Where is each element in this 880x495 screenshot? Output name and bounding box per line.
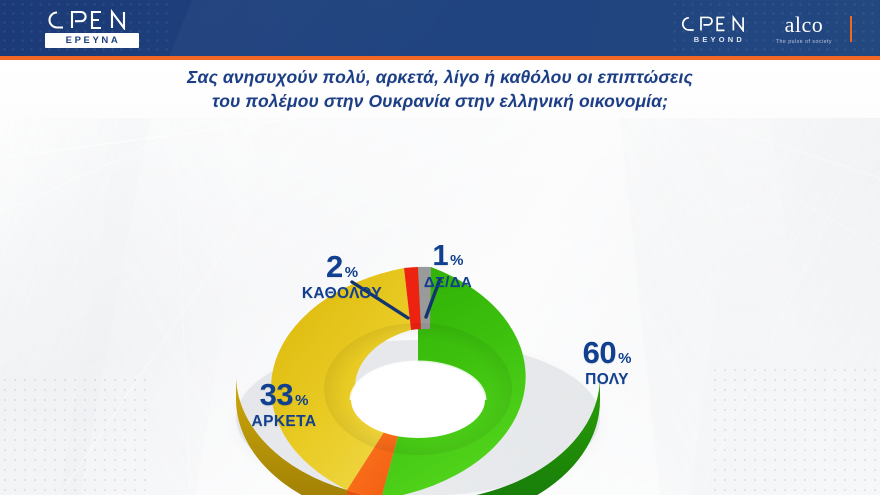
beyond-label: BEYOND	[691, 35, 745, 44]
label-arketa-percent: %	[295, 393, 308, 408]
header-sheen	[156, 0, 504, 56]
page-title: Σας ανησυχούν πολύ, αρκετά, λίγο ή καθόλ…	[187, 65, 693, 113]
open-beyond-logo: BEYOND	[678, 15, 758, 44]
label-katholou-category: ΚΑΘΟΛΟΥ	[282, 286, 402, 302]
open-ereyna-logo: ΕΡΕΥΝΑ	[45, 9, 165, 51]
label-poly-value: 60	[583, 337, 616, 368]
ereyna-label: ΕΡΕΥΝΑ	[64, 36, 121, 46]
donut-chart	[0, 118, 880, 495]
title-band: Σας ανησυχούν πολύ, αρκετά, λίγο ή καθόλ…	[0, 60, 880, 118]
label-katholou-value: 2	[326, 251, 343, 282]
open-wordmark-left-icon	[45, 9, 165, 29]
title-line-1: Σας ανησυχούν πολύ, αρκετά, λίγο ή καθόλ…	[187, 65, 693, 89]
label-poly-percent: %	[618, 351, 631, 366]
chart-canvas: 2 % ΚΑΘΟΛΟΥ 1 % ΔΞ/ΔΑ 60 % ΠΟΛΥ 33 % Α	[0, 118, 880, 495]
ereyna-badge: ΕΡΕΥΝΑ	[45, 33, 139, 48]
label-katholou-percent: %	[345, 265, 358, 280]
slide: ΕΡΕΥΝΑ BEYOND alco The pulse of society	[0, 0, 880, 495]
label-arketa: 33 % ΑΡΚΕΤΑ	[222, 379, 346, 430]
label-katholou: 2 % ΚΑΘΟΛΟΥ	[282, 251, 402, 302]
alco-tagline: The pulse of society	[776, 39, 832, 45]
header-bar: ΕΡΕΥΝΑ BEYOND alco The pulse of society	[0, 0, 880, 56]
label-arketa-value: 33	[260, 379, 293, 410]
label-poly-category: ΠΟΛΥ	[552, 372, 662, 388]
label-dxda-percent: %	[450, 253, 463, 268]
label-poly: 60 % ΠΟΛΥ	[552, 337, 662, 388]
logo-divider	[850, 16, 852, 42]
alco-logo: alco The pulse of society	[772, 14, 832, 45]
title-line-2: του πολέμου στην Ουκρανία στην ελληνική …	[187, 89, 693, 113]
label-dxda: 1 % ΔΞ/ΔΑ	[404, 242, 492, 290]
label-arketa-category: ΑΡΚΕΤΑ	[222, 414, 346, 430]
label-dxda-value: 1	[433, 242, 449, 271]
partner-logos: BEYOND alco The pulse of society	[678, 12, 852, 46]
open-wordmark-right-icon	[678, 15, 758, 32]
label-dxda-category: ΔΞ/ΔΑ	[404, 275, 492, 290]
alco-wordmark: alco	[785, 14, 824, 36]
